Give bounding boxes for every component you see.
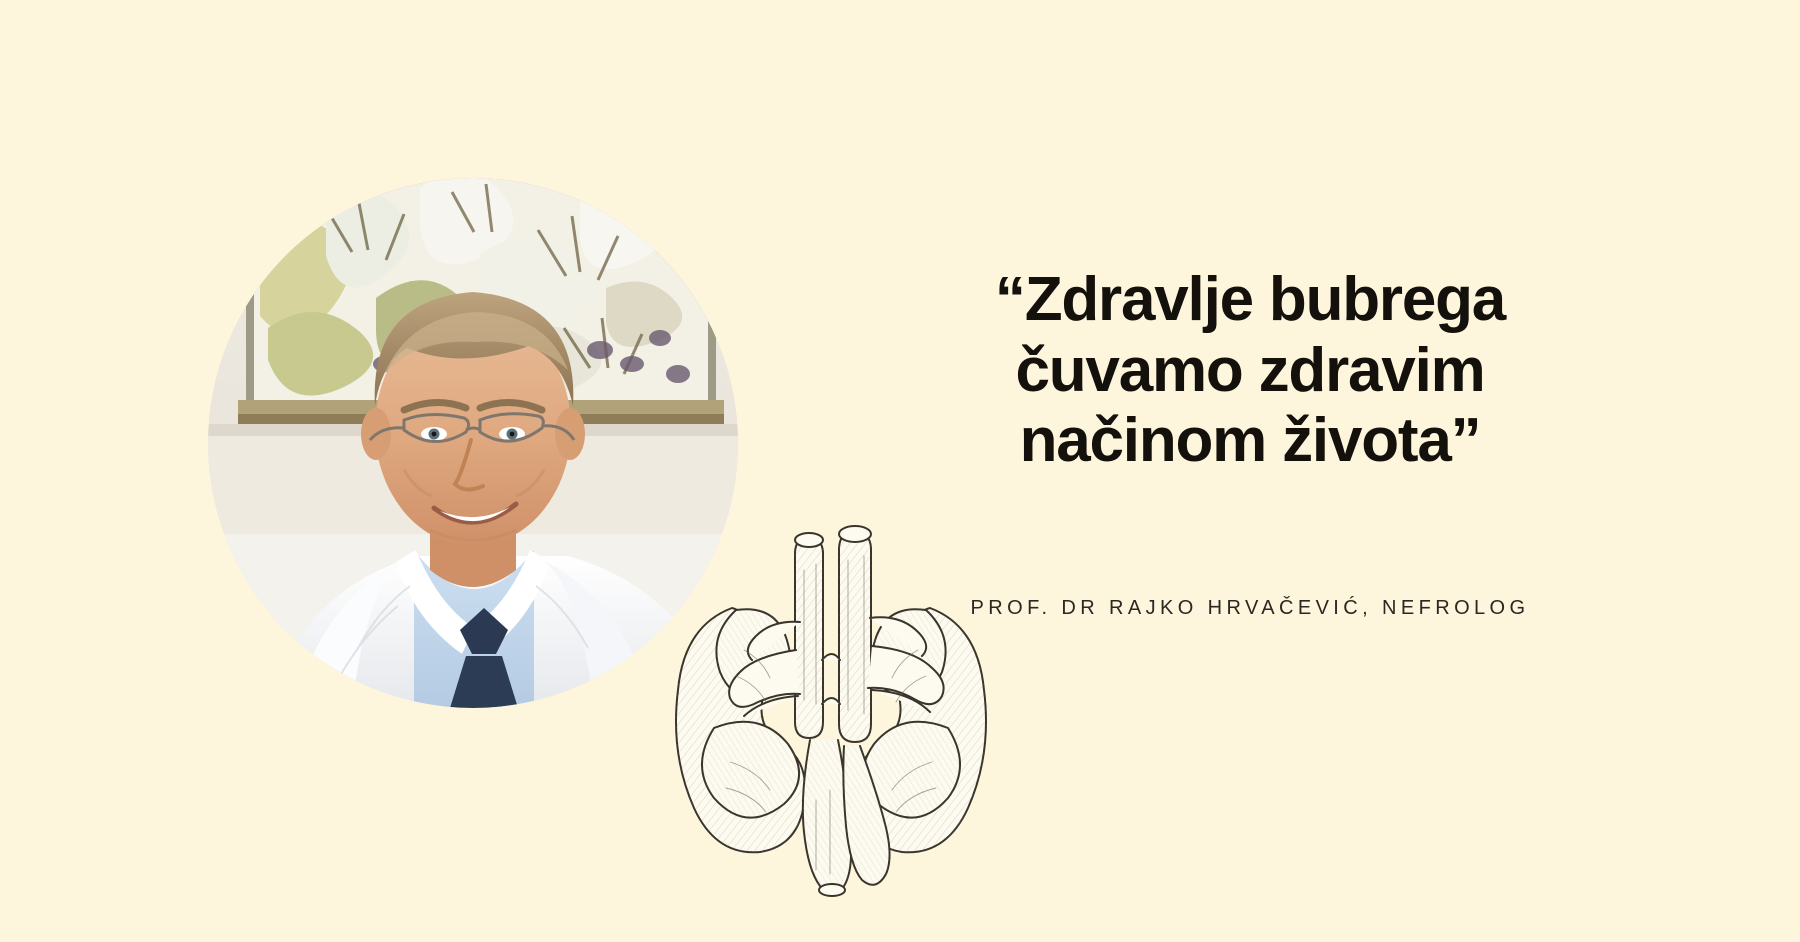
attribution-text: PROF. DR RAJKO HRVAČEVIĆ, NEFROLOG: [880, 597, 1620, 620]
kidneys-illustration: [640, 500, 1020, 900]
quote-line-2: čuvamo zdravim: [880, 336, 1620, 407]
quote-text: “Zdravlje bubrega čuvamo zdravim načinom…: [880, 265, 1620, 477]
quote-banner: “Zdravlje bubrega čuvamo zdravim načinom…: [0, 0, 1800, 942]
quote-line-1: “Zdravlje bubrega: [880, 265, 1620, 336]
quote-line-3: načinom života”: [880, 406, 1620, 477]
